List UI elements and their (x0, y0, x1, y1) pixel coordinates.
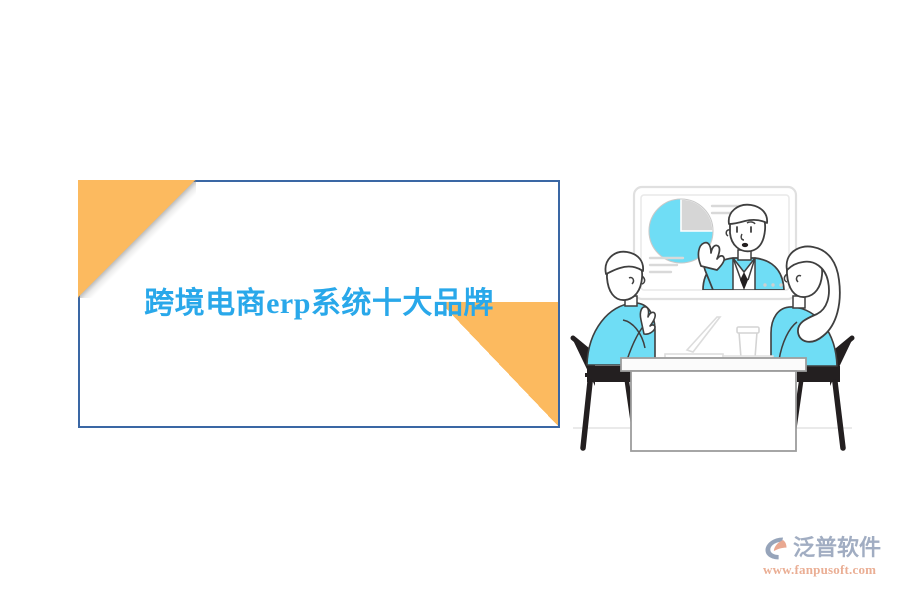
laptop (665, 317, 723, 358)
watermark-url-text: www.fanpusoft.com (763, 563, 876, 576)
watermark-logo-row: 泛普软件 (762, 534, 881, 562)
screen-indicator-dots (763, 283, 782, 286)
wall-mounted-video-screen (634, 187, 796, 299)
watermark-brand-text: 泛普软件 (793, 537, 881, 559)
fanpu-logo-icon (762, 534, 790, 562)
banner-title: 跨境电商erp系统十大品牌 (80, 278, 558, 322)
conference-table (621, 358, 806, 451)
coffee-cup (723, 327, 773, 360)
video-conference-illustration (565, 170, 860, 465)
watermark: 泛普软件 www.fanpusoft.com (762, 534, 894, 592)
banner-frame: 跨境电商erp系统十大品牌 (78, 180, 560, 428)
